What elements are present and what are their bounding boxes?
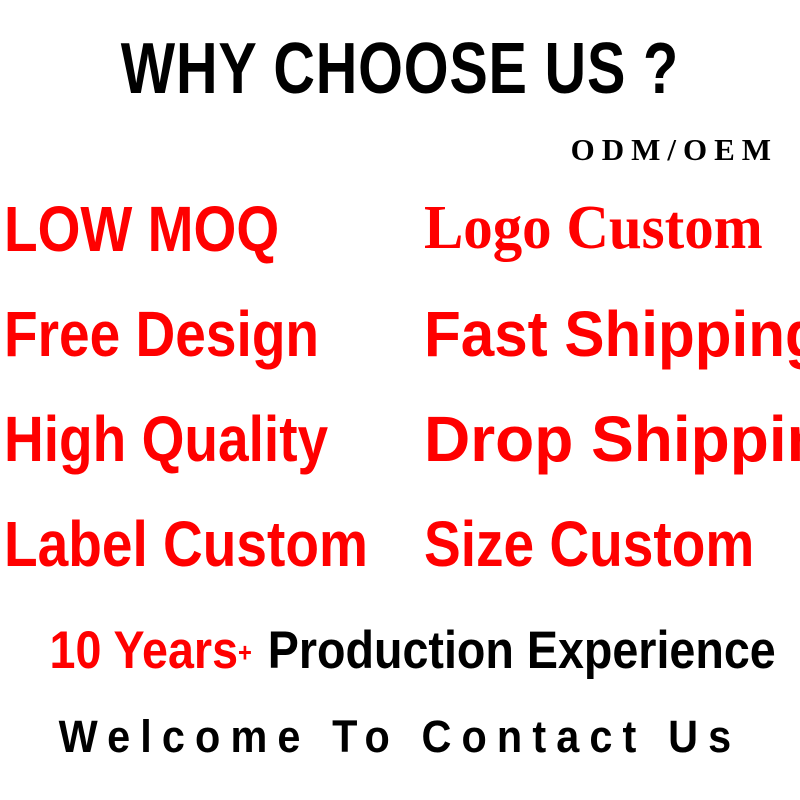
experience-inner: 10 Years+Production Experience: [50, 624, 776, 677]
promo-poster: WHY CHOOSE US ? ODM/OEM LOW MOQ Logo Cus…: [0, 0, 800, 800]
feature-item-fast-shipping: Fast Shipping: [424, 302, 800, 366]
experience-plus-superscript: +: [238, 638, 252, 668]
feature-label: Logo Custom: [424, 197, 763, 259]
experience-years: 10 Years: [50, 621, 238, 680]
feature-item-logo-custom: Logo Custom: [424, 197, 781, 259]
feature-label: LOW MOQ: [4, 197, 279, 261]
feature-item-label-custom: Label Custom: [4, 512, 427, 576]
poster-title: WHY CHOOSE US ?: [0, 32, 800, 108]
feature-label: Fast Shipping: [424, 302, 800, 366]
feature-label: Free Design: [4, 302, 319, 366]
feature-row: Free Design Fast Shipping: [0, 302, 800, 407]
experience-label: Production Experience: [268, 621, 776, 680]
feature-label: Label Custom: [4, 512, 368, 576]
feature-list: LOW MOQ Logo Custom Free Design Fast Shi…: [0, 197, 800, 617]
poster-title-text: WHY CHOOSE US ?: [121, 32, 679, 108]
contact-cta: Welcome To Contact Us: [0, 714, 800, 759]
feature-item-low-moq: LOW MOQ: [4, 197, 324, 261]
feature-item-free-design: Free Design: [4, 302, 370, 366]
feature-row: Label Custom Size Custom: [0, 512, 800, 617]
odm-oem-text: ODM/OEM: [571, 134, 778, 165]
feature-label: Size Custom: [424, 512, 754, 576]
contact-cta-text: Welcome To Contact Us: [59, 714, 742, 759]
feature-item-high-quality: High Quality: [4, 407, 381, 471]
feature-row: High Quality Drop Shipping: [0, 407, 800, 512]
feature-row: LOW MOQ Logo Custom: [0, 197, 800, 302]
experience-line: 10 Years+Production Experience: [0, 624, 800, 677]
feature-label: High Quality: [4, 407, 328, 471]
feature-label: Drop Shipping: [424, 407, 800, 471]
feature-item-drop-shipping: Drop Shipping: [424, 407, 800, 471]
feature-item-size-custom: Size Custom: [424, 512, 800, 576]
odm-oem-badge: ODM/OEM: [0, 134, 800, 165]
